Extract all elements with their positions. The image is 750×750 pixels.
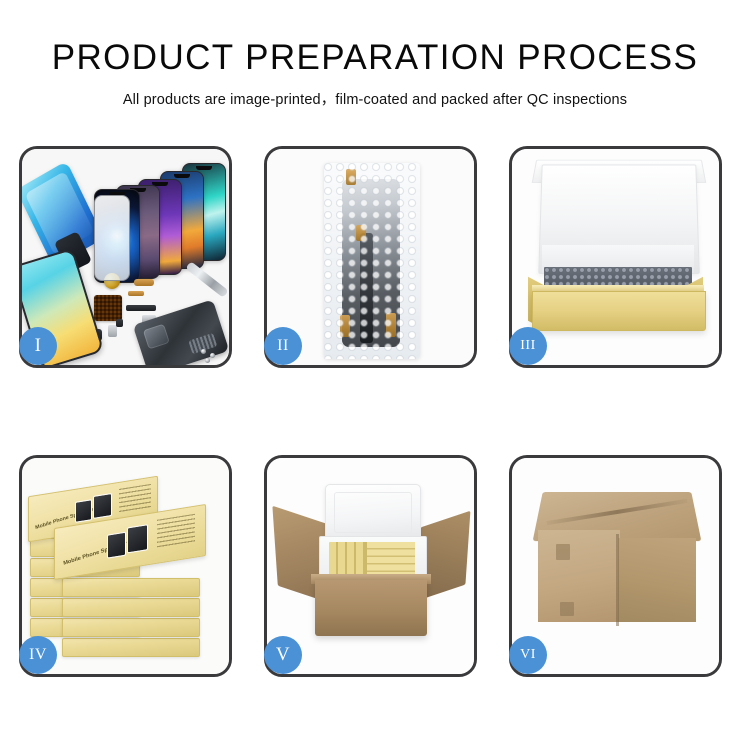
box-kraft-front-icon — [532, 291, 706, 331]
screen-protector-icon — [94, 195, 130, 281]
stacked-box — [62, 638, 200, 657]
carton-body-icon — [315, 580, 427, 636]
sim-tray-icon — [108, 325, 117, 337]
step-1-badge: I — [19, 327, 57, 365]
inner-boxes-stack-icon — [367, 542, 415, 578]
process-steps-grid: I II III — [19, 146, 732, 677]
process-step-5[interactable]: V — [264, 455, 477, 677]
step-1-image — [22, 149, 229, 365]
flex-cable-2-icon — [128, 291, 144, 296]
step-6-badge: VI — [509, 636, 547, 674]
carton-front-edge-icon — [616, 534, 619, 626]
step-3-image — [512, 149, 719, 365]
box-window-b — [127, 524, 148, 553]
foam-lid-icon — [325, 484, 421, 542]
carton-left-face-icon — [538, 530, 620, 622]
carton-tab-upper-icon — [556, 544, 570, 560]
step-4-image: Mobile Phone Spare Parts Mobile Phone Sp… — [22, 458, 229, 674]
step-5-image — [267, 458, 474, 674]
stacked-box — [62, 618, 200, 637]
button-icon — [116, 319, 123, 327]
process-step-1[interactable]: I — [19, 146, 232, 368]
stacked-box — [62, 598, 200, 617]
camera-flex-icon — [126, 305, 156, 311]
box-window-a — [107, 532, 126, 559]
process-step-6[interactable]: VI — [509, 455, 722, 677]
step-2-image — [267, 149, 474, 365]
stacked-box — [62, 578, 200, 597]
connector-mid-icon — [356, 225, 366, 241]
step-6-image — [512, 458, 719, 674]
screwdriver-icon — [185, 261, 228, 298]
step-4-badge: IV — [19, 636, 57, 674]
flex-cable-icon — [134, 279, 154, 286]
connector-br-icon — [386, 313, 396, 337]
step-3-badge: III — [509, 327, 547, 365]
process-step-4[interactable]: Mobile Phone Spare Parts Mobile Phone Sp… — [19, 455, 232, 677]
step-2-badge: II — [264, 327, 302, 365]
connector-top-icon — [346, 169, 356, 185]
box-spec-lines — [119, 484, 151, 515]
page-subtitle: All products are image-printed，film-coat… — [0, 88, 750, 109]
page-header: PRODUCT PREPARATION PROCESS All products… — [0, 0, 750, 109]
wrapped-flex-cable-icon — [360, 233, 373, 343]
box-window-a — [75, 499, 92, 523]
connector-bl-icon — [340, 315, 350, 337]
process-step-3[interactable]: III — [509, 146, 722, 368]
process-step-2[interactable]: II — [264, 146, 477, 368]
page-title: PRODUCT PREPARATION PROCESS — [0, 40, 750, 77]
chip-array-icon — [94, 295, 122, 321]
step-5-badge: V — [264, 636, 302, 674]
box-window-b — [93, 493, 112, 519]
bubble-wrap-bag-icon — [324, 163, 420, 359]
screws-icon — [201, 349, 221, 363]
box-spec-lines — [157, 514, 195, 548]
box-stack-group: Mobile Phone Spare Parts Mobile Phone Sp… — [22, 458, 229, 674]
carton-tab-lower-icon — [560, 602, 574, 616]
carton-right-face-icon — [618, 538, 696, 622]
